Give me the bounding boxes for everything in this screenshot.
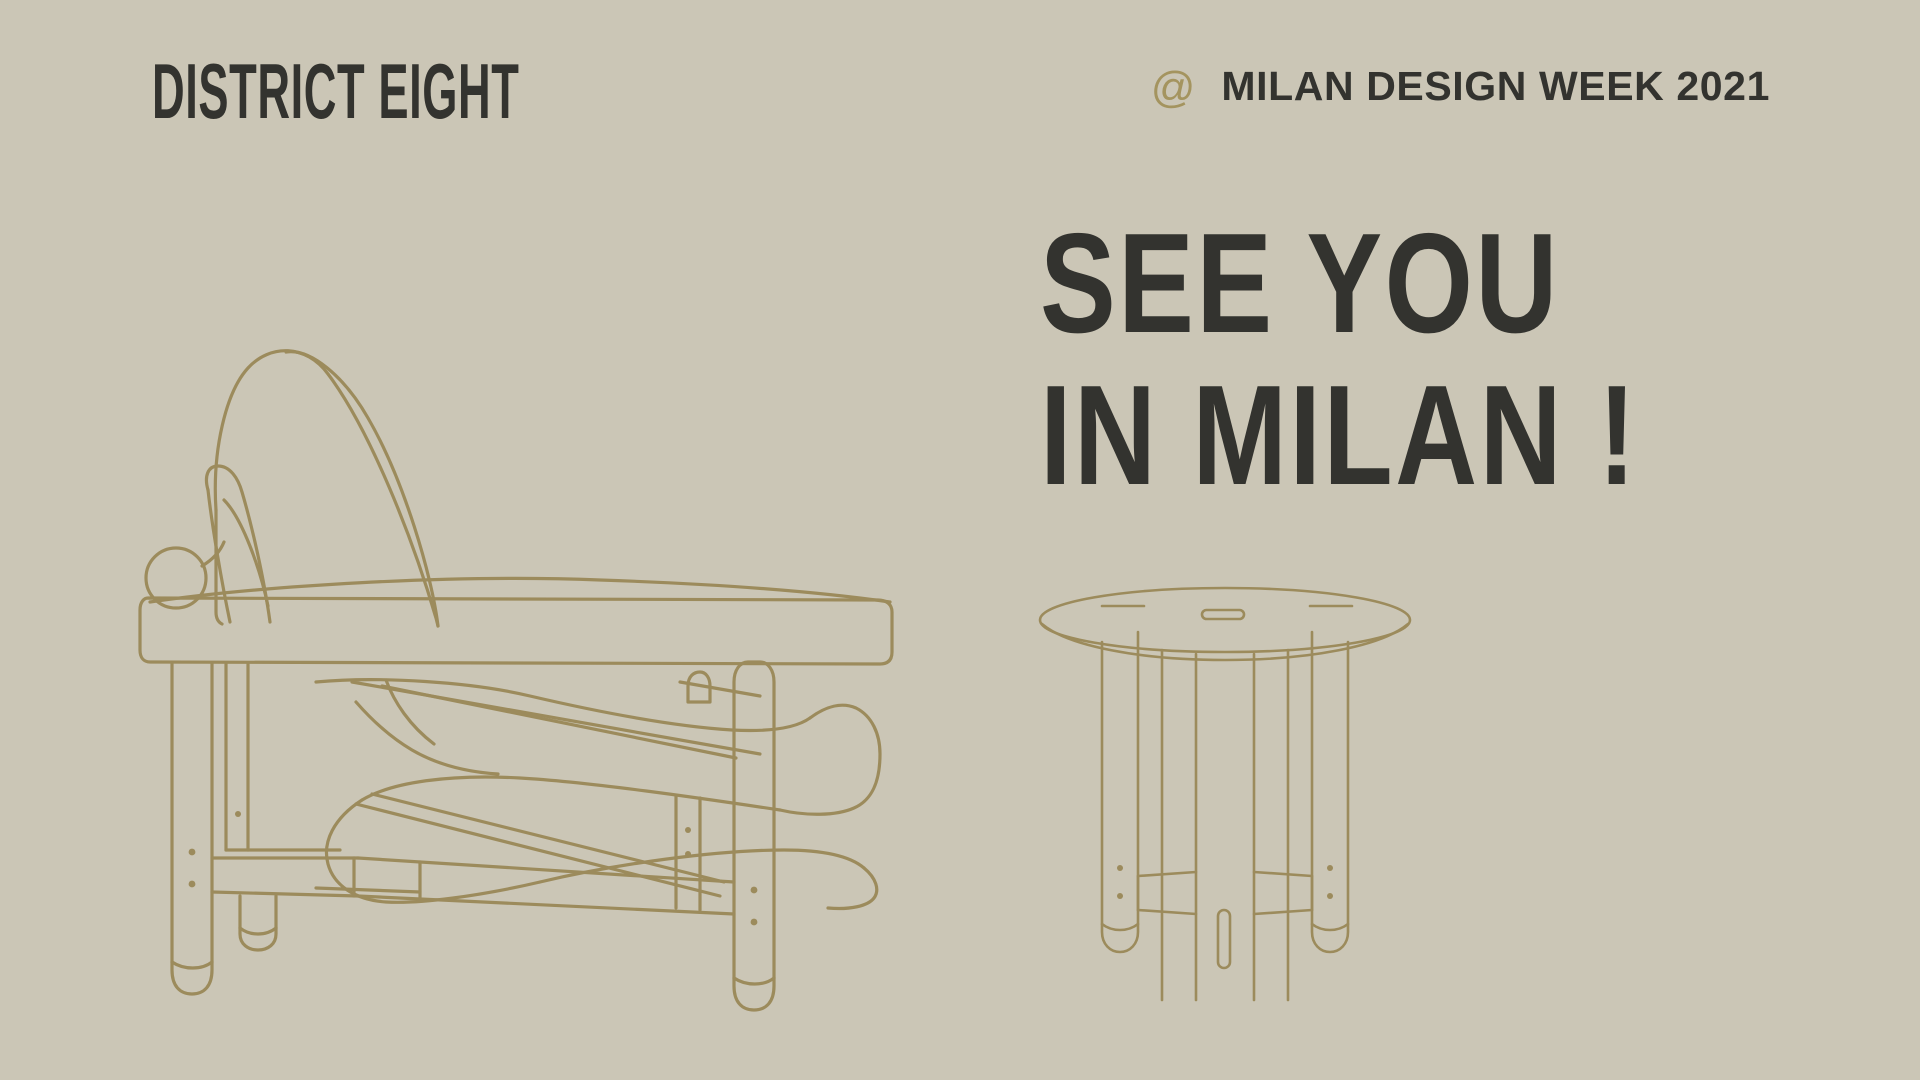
lounge-chair-svg (120, 330, 930, 1020)
headline-line-2: IN MILAN ! (1040, 360, 1638, 512)
poster-canvas: DISTRICT EIGHT @ MILAN DESIGN WEEK 2021 … (0, 0, 1920, 1080)
headline-line-1: SEE YOU (1040, 208, 1638, 360)
round-side-table-illustration (1020, 580, 1440, 1000)
event-name: MILAN DESIGN WEEK 2021 (1221, 66, 1770, 107)
headline: SEE YOU IN MILAN ! (1040, 208, 1638, 512)
at-symbol-icon: @ (1151, 66, 1196, 110)
brand-logo: DISTRICT EIGHT (152, 52, 520, 130)
round-side-table-svg (1020, 580, 1440, 1000)
event-eyebrow: @ MILAN DESIGN WEEK 2021 (1151, 64, 1770, 108)
lounge-chair-illustration (120, 330, 930, 1020)
